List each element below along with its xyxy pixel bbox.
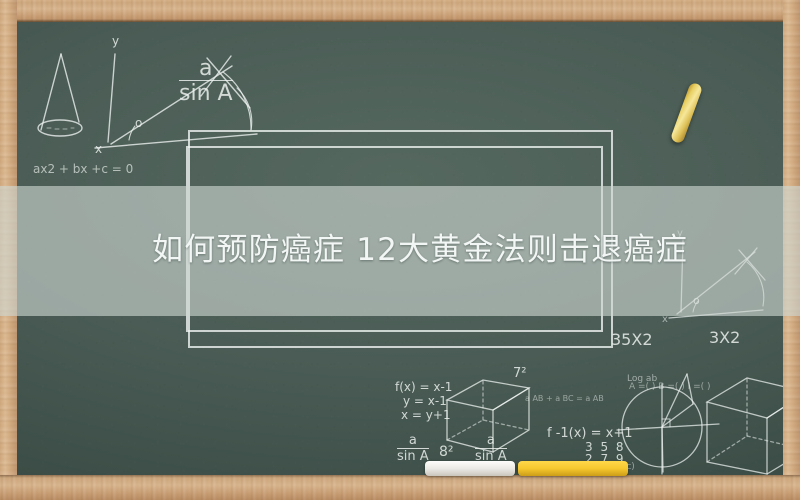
frame-top <box>0 0 800 22</box>
law-of-sines-fraction-3: a sin A <box>475 434 507 463</box>
circle-radius-down <box>662 427 663 472</box>
fraction3-numerator: a <box>475 434 507 448</box>
function-x-eq: x = y+1 <box>401 408 451 422</box>
circle-chord <box>687 374 693 404</box>
circle-radius-b <box>662 404 693 427</box>
cube-c-front <box>447 400 493 452</box>
right-angle-mark <box>662 419 670 427</box>
frame-bottom-ledge <box>0 475 800 500</box>
law-of-sines-fraction: a sin A <box>179 57 233 105</box>
circle-radius-a <box>662 374 687 427</box>
yellow-chalk-stick <box>518 461 628 476</box>
seven-squared: 7² <box>513 366 526 381</box>
expr-35x2: 35X2 <box>611 330 653 349</box>
fraction-denominator: sin A <box>179 80 233 105</box>
cube-c-side <box>493 388 529 452</box>
axis-y-topleft <box>108 54 115 142</box>
circle-horizontal-axis <box>617 424 719 430</box>
blackboard-title-card: a sin A y x o ax2 + bx +c = 0 o y x 35X2… <box>0 0 800 500</box>
cube-r-top <box>707 378 783 418</box>
cone-base-ellipse <box>38 120 82 136</box>
cone-base-ticks <box>47 128 74 129</box>
fraction2-denominator: sin A <box>397 448 429 464</box>
quadratic-equation: ax2 + bx +c = 0 <box>33 162 133 176</box>
page-title: 如何预防癌症 12大黄金法则击退癌症 <box>152 232 688 269</box>
digits-row-1: 3 5 8 <box>585 440 626 454</box>
matrices-label: A =( ) B =( ) I =( ) <box>629 382 711 392</box>
cube-r-side <box>767 392 783 474</box>
circle-diagram <box>622 387 702 467</box>
inverse-function: f -1(x) = x+1 <box>547 426 633 441</box>
fraction-numerator: a <box>179 57 233 80</box>
function-y-eq: y = x-1 <box>403 394 447 408</box>
cross-stroke-b <box>201 56 231 96</box>
log-ab-label: Log ab <box>627 374 657 384</box>
title-band: 如何预防癌症 12大黄金法则击退癌症 <box>0 186 800 316</box>
cross-stroke-a <box>207 58 250 108</box>
cone-left-edge <box>41 54 61 130</box>
axis-x-label-topleft: x <box>95 142 102 156</box>
angle-label-topleft: o <box>135 116 142 130</box>
function-fx: f(x) = x-1 <box>395 380 452 394</box>
cube-r-front <box>707 402 767 474</box>
cone-right-edge <box>61 54 79 122</box>
big-arc <box>223 72 251 130</box>
angle-arc-small <box>129 126 135 140</box>
fraction2-numerator: a <box>397 434 429 448</box>
law-of-sines-fraction-2: a sin A <box>397 434 429 463</box>
cube-c-top <box>447 380 529 410</box>
eight-squared: 8² <box>439 444 454 460</box>
white-chalk-stick <box>425 461 515 476</box>
vector-identity: a AB + a BC = a AB <box>525 394 604 403</box>
chalk-stick-on-board <box>670 82 703 145</box>
axis-y-label-topleft: y <box>112 34 119 48</box>
cube-r-hidden-a <box>707 436 783 462</box>
expr-3x2: 3X2 <box>709 328 740 347</box>
cube-c-hidden-a <box>447 420 529 440</box>
inner-arc <box>237 88 252 130</box>
